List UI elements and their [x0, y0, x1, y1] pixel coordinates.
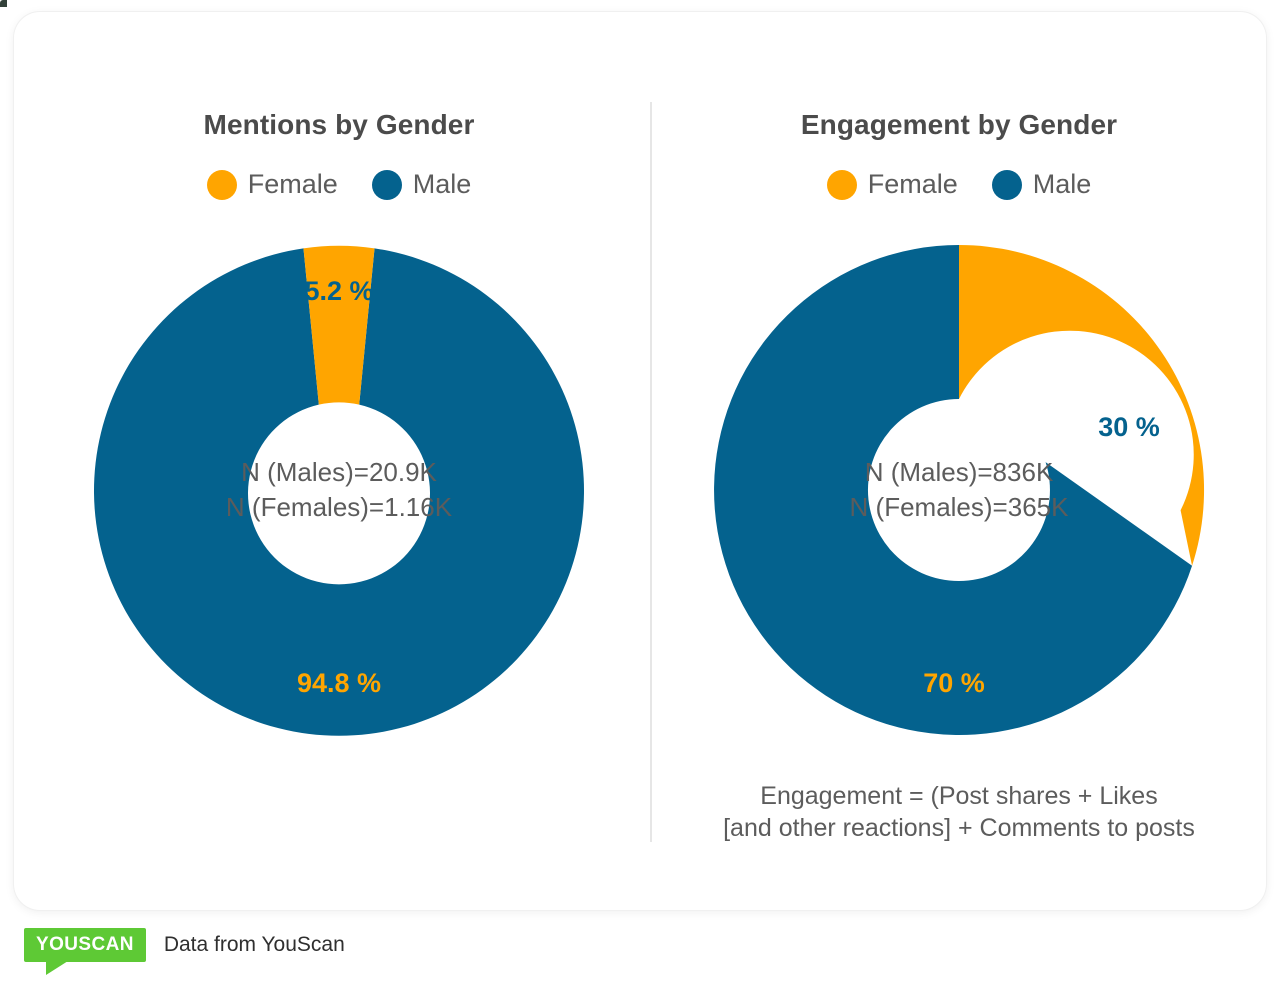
right-label-male-percent: 70 % [923, 668, 985, 699]
legend-item-male[interactable]: Male [372, 169, 472, 200]
chart-card: Mentions by Gender Female Male [14, 12, 1266, 910]
male-swatch-icon [372, 170, 402, 200]
legend-label-male: Male [413, 169, 472, 200]
legend-item-male[interactable]: Male [992, 169, 1092, 200]
right-label-female-percent: 30 % [1098, 412, 1160, 443]
footer: YOUSCAN Data from YouScan [24, 928, 345, 962]
right-chart-title: Engagement by Gender [652, 109, 1266, 141]
left-label-male-percent: 94.8 % [297, 668, 381, 699]
footer-caption: Data from YouScan [164, 933, 345, 957]
left-label-female-percent: 5.2 % [304, 276, 373, 307]
female-swatch-icon [827, 170, 857, 200]
panel-engagement-by-gender: Engagement by Gender Female Male [652, 12, 1266, 910]
engagement-formula-note: Engagement = (Post shares + Likes [and o… [652, 780, 1266, 844]
panel-mentions-by-gender: Mentions by Gender Female Male [28, 12, 650, 910]
right-donut-chart: N (Males)=836K N (Females)=365K 30 % 70 … [709, 240, 1209, 740]
female-swatch-icon [207, 170, 237, 200]
left-chart-title: Mentions by Gender [28, 109, 650, 141]
youscan-logo[interactable]: YOUSCAN [24, 928, 146, 962]
youscan-logo-text: YOUSCAN [36, 935, 134, 954]
speech-bubble-tail-icon [46, 961, 68, 975]
legend-item-female[interactable]: Female [207, 169, 338, 200]
legend-label-female: Female [868, 169, 958, 200]
legend-item-female[interactable]: Female [827, 169, 958, 200]
male-swatch-icon [992, 170, 1022, 200]
page-root: Mentions by Gender Female Male [0, 0, 1280, 993]
engagement-formula-line2: [and other reactions] + Comments to post… [652, 812, 1266, 844]
right-donut-svg [709, 240, 1209, 740]
left-donut-svg [89, 240, 589, 740]
left-chart-legend: Female Male [28, 169, 650, 200]
right-chart-legend: Female Male [652, 169, 1266, 200]
left-donut-chart: N (Males)=20.9K N (Females)=1.16K 5.2 % … [89, 240, 589, 740]
legend-label-female: Female [248, 169, 338, 200]
corner-marker [0, 0, 7, 7]
legend-label-male: Male [1033, 169, 1092, 200]
engagement-formula-line1: Engagement = (Post shares + Likes [652, 780, 1266, 812]
